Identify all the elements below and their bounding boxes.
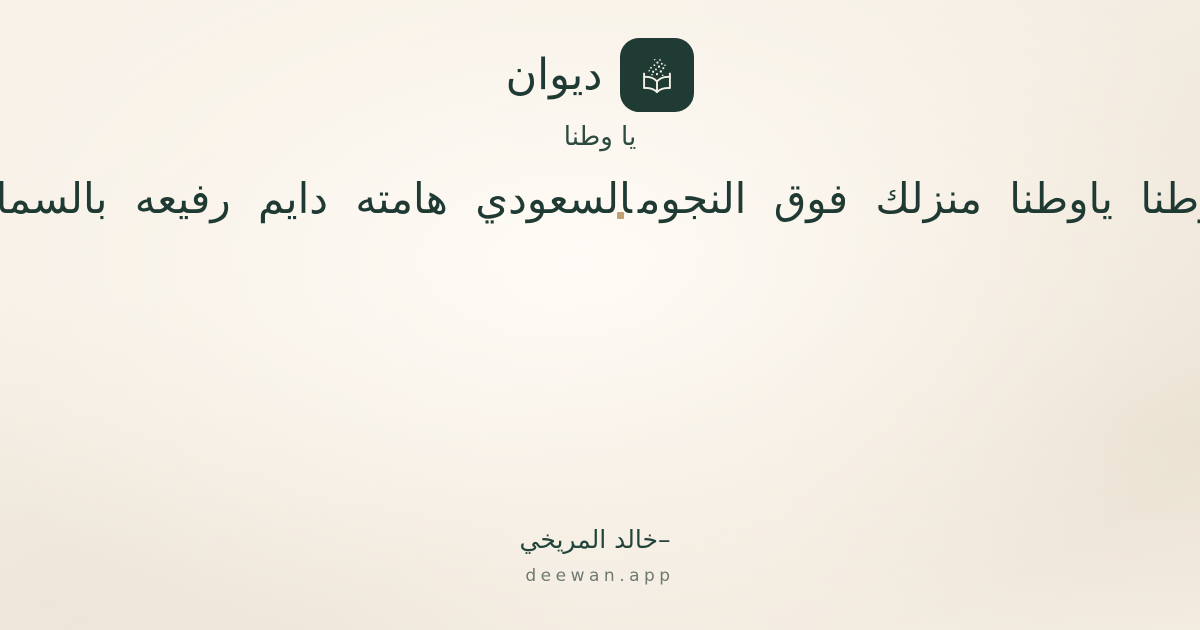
author-dash: –	[658, 525, 671, 554]
card-footer: –خالد المريخي deewan.app	[0, 524, 1200, 586]
open-book-with-sparkles-icon	[635, 53, 679, 97]
app-name: ديوان	[506, 54, 603, 97]
poem-title: يا وطنا	[0, 122, 1200, 153]
author-name: خالد المريخي	[519, 525, 658, 554]
poem-share-card: ديوان يا وطنا ياوطنا ياوطنا منزلك فوق ال…	[0, 0, 1200, 630]
app-logo	[620, 38, 694, 112]
verse-accent-dot	[617, 212, 624, 219]
brand-header: ديوان	[0, 38, 1200, 112]
verse-band: ياوطنا ياوطنا منزلك فوق النجومالسعودي ها…	[0, 168, 1200, 234]
verse-hemistich-b: السعودي هامته دايم رفيعه بالسما	[0, 174, 632, 223]
verse-hemistich-a: ياوطنا ياوطنا منزلك فوق النجوم	[638, 174, 1200, 223]
poem-author: –خالد المريخي	[0, 524, 1200, 557]
verse-line: ياوطنا ياوطنا منزلك فوق النجومالسعودي ها…	[0, 168, 1200, 230]
site-url: deewan.app	[0, 566, 1200, 586]
